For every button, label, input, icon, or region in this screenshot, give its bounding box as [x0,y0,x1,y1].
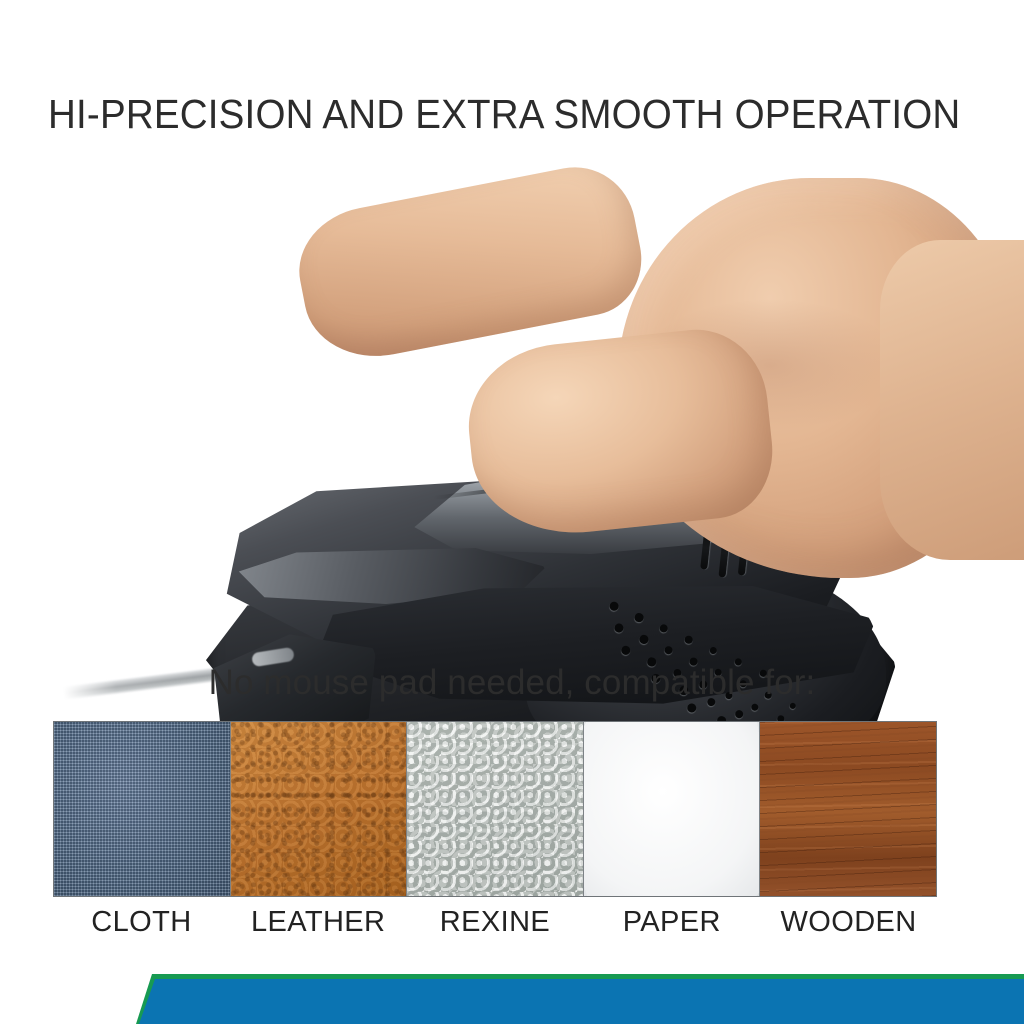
surface-swatch-strip [53,721,937,897]
compatibility-subtitle: No mouse pad needed, compatible for: [0,660,1024,706]
swatch-leather [231,722,408,896]
swatch-wooden [760,722,936,896]
swatch-label-paper: PAPER [583,903,760,941]
wrist [880,240,1024,560]
swatch-label-cloth: CLOTH [53,903,230,941]
swatch-label-wooden: WOODEN [760,903,937,941]
swatch-cloth [54,722,231,896]
swatch-label-leather: LEATHER [230,903,407,941]
surface-label-row: CLOTH LEATHER REXINE PAPER WOODEN [53,903,937,941]
index-finger [289,157,651,369]
swatch-rexine [407,722,584,896]
mouse-scroll-ridges-icon [699,521,761,585]
middle-finger [239,221,501,395]
swatch-paper [584,722,761,896]
bottom-decorative-band [0,968,1024,1024]
swatch-label-rexine: REXINE [407,903,584,941]
knuckle-shadow [640,300,900,430]
product-photo [0,150,1024,650]
page-title: HI-PRECISION AND EXTRA SMOOTH OPERATION [48,88,922,140]
